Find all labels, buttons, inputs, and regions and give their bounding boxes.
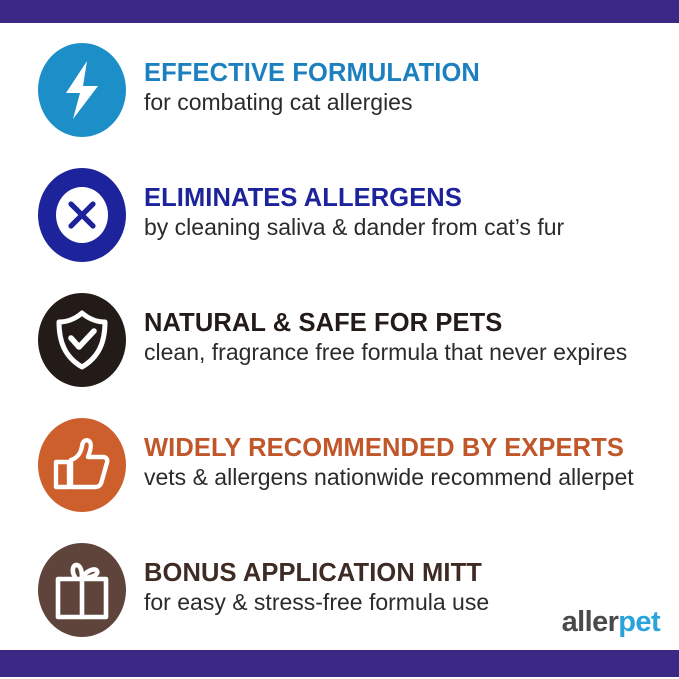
feature-text-block: ELIMINATES ALLERGENS by cleaning saliva … [126,184,679,245]
feature-subtitle: by cleaning saliva & dander from cat’s f… [144,214,679,242]
feature-title: ELIMINATES ALLERGENS [144,184,679,213]
feature-subtitle: clean, fragrance free formula that never… [144,339,679,367]
feature-item-eliminates-allergens: ELIMINATES ALLERGENS by cleaning saliva … [38,167,679,263]
thumbs-up-icon [38,418,126,512]
logo-text-pet: pet [618,606,660,638]
product-feature-panel: EFFECTIVE FORMULATION for combating cat … [0,0,679,679]
top-accent-bar [0,0,679,23]
feature-item-natural-safe: NATURAL & SAFE FOR PETS clean, fragrance… [38,292,679,388]
feature-item-widely-recommended: WIDELY RECOMMENDED BY EXPERTS vets & all… [38,417,679,513]
feature-subtitle: vets & allergens nationwide recommend al… [144,464,679,492]
lightning-bolt-icon [38,43,126,137]
feature-subtitle: for combating cat allergies [144,89,679,117]
x-circle-icon [38,168,126,262]
bottom-accent-bar [0,650,679,677]
shield-check-icon [38,293,126,387]
logo-text-aller: aller [562,606,619,638]
feature-item-effective-formulation: EFFECTIVE FORMULATION for combating cat … [38,42,679,138]
feature-list: EFFECTIVE FORMULATION for combating cat … [0,23,679,650]
allerpet-logo: allerpet [562,608,660,637]
feature-text-block: EFFECTIVE FORMULATION for combating cat … [126,59,679,120]
feature-title: BONUS APPLICATION MITT [144,559,679,588]
feature-title: NATURAL & SAFE FOR PETS [144,309,679,338]
feature-title: WIDELY RECOMMENDED BY EXPERTS [144,434,679,463]
gift-box-icon [38,543,126,637]
feature-title: EFFECTIVE FORMULATION [144,59,679,88]
feature-text-block: WIDELY RECOMMENDED BY EXPERTS vets & all… [126,434,679,495]
feature-text-block: NATURAL & SAFE FOR PETS clean, fragrance… [126,309,679,370]
